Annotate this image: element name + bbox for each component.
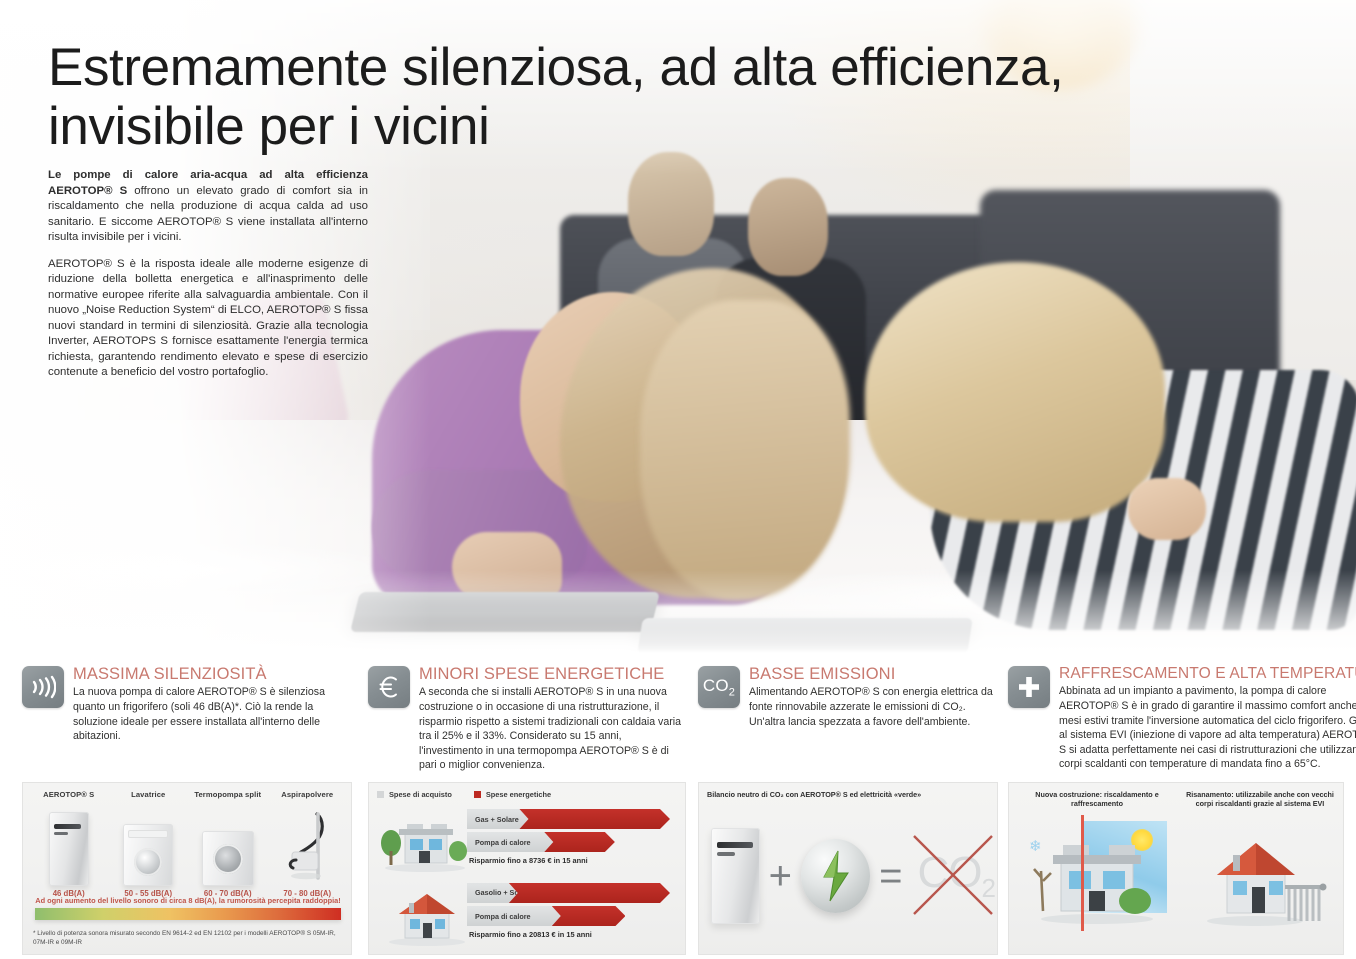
feature-body: Abbinata ad un impianto a pavimento, la … [1059, 684, 1356, 772]
co2-panel-title: Bilancio neutro di CO₂ con AEROTOP® S ed… [707, 790, 921, 799]
feature-title: RAFFRESCAMENTO E ALTA TEMPERATURA [1059, 666, 1356, 682]
vacuum-cleaner-icon [268, 808, 348, 886]
washing-machine-icon [109, 808, 189, 886]
green-lightning-icon [801, 839, 870, 913]
co2-result-label: CO2 [918, 848, 995, 904]
equals-sign: = [879, 856, 902, 896]
legend-item-energy: Spese energetiche [474, 790, 551, 799]
feature-body: Alimentando AEROTOP® S con energia elett… [749, 685, 998, 729]
bar-segment-energy [519, 809, 670, 829]
noise-note: Ad ogni aumento del livello sonoro di ci… [31, 896, 345, 905]
appliance-name: Termopompa split [188, 790, 268, 799]
renovation-house-icon [379, 885, 471, 947]
chart-legend: Spese di acquisto Spese energetiche [377, 790, 551, 799]
heat-pump-icon [29, 808, 109, 886]
legend-item-purchase: Spese di acquisto [377, 790, 452, 799]
season-divider [1081, 815, 1084, 931]
feature-basse-emissioni: CO2 BASSE EMISSIONI Alimentando AEROTOP®… [698, 666, 998, 729]
bar-label: Pompa di calore [467, 832, 553, 852]
boy-hair [865, 262, 1165, 522]
adult-man-head [748, 178, 828, 276]
intro-copy: Le pompe di calore aria-acqua ad alta ef… [48, 168, 368, 392]
bar-row-gasolio-solare: Gasolio + Solare [467, 883, 679, 903]
girl-hair-strands [640, 300, 850, 600]
new-build-cooling-illustration: ❄ [1027, 815, 1167, 935]
saving-text: Risparmio fino a 20813 € in 15 anni [467, 930, 679, 939]
bar-label: Pompa di calore [467, 906, 561, 926]
bar-row-pompa-di-calore-2: Pompa di calore [467, 906, 679, 926]
bar-segment-energy [552, 906, 626, 926]
feature-body: A seconda che si installi AEROTOP® S in … [419, 685, 686, 773]
caption-new-build: Nuova costruzione: riscaldamento e raffr… [1023, 790, 1171, 809]
feature-title: MASSIMA SILENZIOSITÀ [73, 666, 352, 683]
bar-segment-energy [509, 883, 670, 903]
cross-out-icon [910, 832, 996, 918]
saving-text: Risparmio fino a 8736 € in 15 anni [467, 856, 679, 865]
intro-paragraph-2: AEROTOP® S è la risposta ideale alle mod… [48, 257, 368, 381]
noise-footnote: * Livello di potenza sonora misurato sec… [33, 929, 349, 947]
appliance-name: AEROTOP® S [29, 790, 109, 799]
noise-column-lavatrice: Lavatrice 50 - 55 dB(A) [109, 790, 189, 898]
renovation-radiator-illustration [1199, 825, 1327, 933]
legend-swatch-red [474, 791, 481, 798]
feature-minori-spese-energetiche: MINORI SPESE ENERGETICHE A seconda che s… [368, 666, 686, 773]
feature-massima-silenziosita: MASSIMA SILENZIOSITÀ La nuova pompa di c… [22, 666, 352, 744]
feature-raffrescamento-alta-temperatura: RAFFRESCAMENTO E ALTA TEMPERATURA Abbina… [1008, 666, 1344, 772]
page-headline: Estremamente silenziosa, ad alta efficie… [48, 38, 1148, 157]
panel-cost-chart: Spese di acquisto Spese energetiche [368, 782, 686, 955]
euro-icon [368, 666, 410, 708]
noise-gradient-bar [35, 908, 341, 920]
panel-cooling-renovation: Nuova costruzione: riscaldamento e raffr… [1008, 782, 1344, 955]
appliance-name: Lavatrice [109, 790, 189, 799]
noise-column-termopompa-split: Termopompa split 60 - 70 dB(A) [188, 790, 268, 898]
sound-waves-icon [22, 666, 64, 708]
legend-label: Spese energetiche [486, 790, 551, 799]
plus-sign: + [769, 856, 792, 896]
co2-equation-row: + = CO2 [705, 813, 995, 938]
bar-label: Gas + Solare [467, 809, 528, 829]
bar-label: Gasolio + Solare [467, 883, 518, 903]
chart-bars-group-1: Gas + Solare Pompa di calore Risparmio f… [467, 809, 679, 865]
chart-group-renovation: Gasolio + Solare Pompa di calore Risparm… [379, 883, 679, 951]
panel-noise-comparison: AEROTOP® S 46 dB(A) Lavatrice 50 - 55 dB… [22, 782, 352, 955]
chart-group-new-build: Gas + Solare Pompa di calore Risparmio f… [379, 809, 679, 877]
noise-column-aspirapolvere: Aspirapolvere 70 - 80 dB(A) [268, 790, 348, 898]
heat-pump-icon [711, 828, 760, 924]
feature-title: MINORI SPESE ENERGETICHE [419, 666, 686, 683]
bar-segment-energy [544, 832, 615, 852]
appliance-name: Aspirapolvere [268, 790, 348, 799]
bar-row-gas-solare: Gas + Solare [467, 809, 679, 829]
split-heat-pump-icon [188, 808, 268, 886]
brochure-page: Estremamente silenziosa, ad alta efficie… [0, 0, 1356, 959]
caption-renovation: Risanamento: utilizzabile anche con vecc… [1185, 790, 1335, 809]
co2-label: CO2 [703, 676, 735, 698]
co2-icon: CO2 [698, 666, 740, 708]
feature-title: BASSE EMISSIONI [749, 666, 998, 683]
feature-body: La nuova pompa di calore AEROTOP® S è si… [73, 685, 352, 743]
boy-hand [1128, 478, 1206, 540]
noise-columns: AEROTOP® S 46 dB(A) Lavatrice 50 - 55 dB… [29, 790, 347, 898]
chart-bars-group-2: Gasolio + Solare Pompa di calore Risparm… [467, 883, 679, 939]
panel-co2-equation: Bilancio neutro di CO₂ con AEROTOP® S ed… [698, 782, 998, 955]
intro-lead-paragraph: Le pompe di calore aria-acqua ad alta ef… [48, 168, 368, 246]
new-build-house-icon [379, 811, 471, 873]
plus-icon [1008, 666, 1050, 708]
legend-label: Spese di acquisto [389, 790, 452, 799]
bottom-white-fade [0, 570, 1356, 660]
noise-column-aerotop: AEROTOP® S 46 dB(A) [29, 790, 109, 898]
bar-row-pompa-di-calore: Pompa di calore [467, 832, 679, 852]
legend-swatch-gray [377, 791, 384, 798]
